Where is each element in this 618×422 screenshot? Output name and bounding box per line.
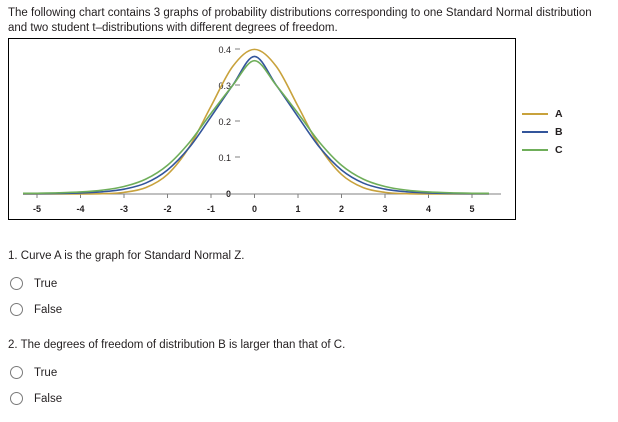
- question-2-option-true[interactable]: True: [10, 366, 57, 379]
- x-axis-ticks: [37, 194, 472, 198]
- option-label: False: [34, 393, 62, 405]
- x-tick-label-2: 2: [339, 204, 344, 214]
- legend-label-c: C: [555, 144, 563, 156]
- y-axis-ticks: [235, 49, 240, 157]
- radio-icon[interactable]: [10, 366, 23, 379]
- curve-b: [37, 56, 472, 193]
- x-tick-label--2: -2: [163, 204, 171, 214]
- legend-label-b: B: [555, 126, 563, 138]
- x-tick-label-3: 3: [382, 204, 387, 214]
- x-tick-label-0: 0: [252, 204, 257, 214]
- question-1-text: 1. Curve A is the graph for Standard Nor…: [8, 250, 245, 262]
- x-tick-label--4: -4: [76, 204, 84, 214]
- distribution-chart: 0.4 0.3 0.2 0.1 0: [9, 39, 515, 219]
- x-tick-label--1: -1: [207, 204, 215, 214]
- distribution-curves: [23, 49, 489, 194]
- intro-text: The following chart contains 3 graphs of…: [8, 6, 608, 36]
- curve-c: [37, 61, 472, 194]
- x-tick-label--5: -5: [33, 204, 41, 214]
- x-tick-label-4: 4: [426, 204, 431, 214]
- legend-item-c: C: [522, 141, 608, 159]
- y-tick-label-0.2: 0.2: [218, 117, 231, 127]
- legend-item-a: A: [522, 105, 608, 123]
- y-tick-label-0.4: 0.4: [218, 45, 231, 55]
- question-2-text: 2. The degrees of freedom of distributio…: [8, 339, 345, 351]
- option-label: False: [34, 304, 62, 316]
- radio-icon[interactable]: [10, 392, 23, 405]
- y-tick-label-0.1: 0.1: [218, 153, 231, 163]
- x-tick-label--3: -3: [120, 204, 128, 214]
- legend-swatch-a: [522, 113, 548, 115]
- radio-icon[interactable]: [10, 277, 23, 290]
- question-1-option-true[interactable]: True: [10, 277, 57, 290]
- option-label: True: [34, 278, 57, 290]
- curve-a: [37, 49, 472, 194]
- legend-swatch-b: [522, 131, 548, 133]
- legend-swatch-c: [522, 149, 548, 151]
- legend-item-b: B: [522, 123, 608, 141]
- option-label: True: [34, 367, 57, 379]
- question-2-option-false[interactable]: False: [10, 392, 62, 405]
- question-1-option-false[interactable]: False: [10, 303, 62, 316]
- chart-legend: A B C: [522, 105, 608, 159]
- chart-container: 0.4 0.3 0.2 0.1 0: [8, 38, 516, 220]
- legend-label-a: A: [555, 108, 563, 120]
- radio-icon[interactable]: [10, 303, 23, 316]
- worksheet-page: The following chart contains 3 graphs of…: [0, 0, 618, 422]
- x-tick-label-1: 1: [295, 204, 300, 214]
- x-tick-label-5: 5: [469, 204, 474, 214]
